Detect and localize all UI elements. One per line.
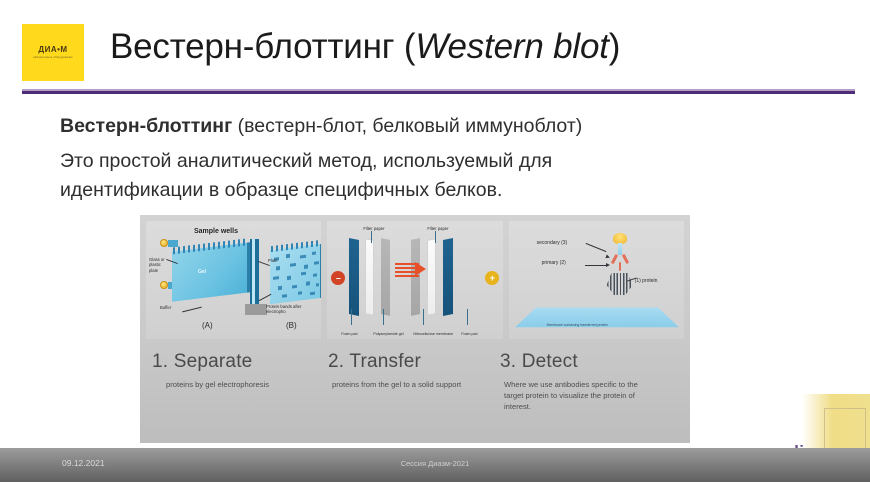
membrane-label: Membrane containing transferred protein (547, 323, 608, 327)
tick-foot-2 (383, 309, 384, 325)
step-detect: 3. Detect Where we use antibodies specif… (500, 351, 682, 437)
step-3-title: 3. Detect (500, 351, 682, 373)
leader-line-primary (585, 265, 607, 266)
step-1-title: 1. Separate (152, 351, 328, 373)
plate-label: Plate (268, 258, 278, 263)
tick-foot-4 (467, 309, 468, 325)
lead-term: Вестерн-блоттинг (60, 115, 232, 137)
lead-synonyms: (вестерн-блот, белковый иммуноблот) (232, 115, 582, 137)
step-2-desc: proteins from the gel to a solid support (332, 379, 464, 390)
buffer-label: Buffer (160, 305, 171, 310)
anode-icon: + (485, 271, 499, 285)
page-title-ru: Вестерн-блоттинг ( (110, 27, 415, 66)
tick-filter-right (435, 231, 436, 243)
page-title-en: Western blot (415, 27, 608, 66)
polyacrylamide-gel (381, 238, 390, 316)
page-title-close: ) (609, 27, 620, 66)
filter-paper-left-label: Filter paper (363, 226, 384, 231)
foam-pad-left (349, 238, 359, 316)
foam-pad-right-label: Foam pad (461, 332, 477, 336)
leader-line-buffer (182, 307, 202, 313)
figure-steps: 1. Separate proteins by gel electrophore… (148, 351, 682, 437)
tick-foot-3 (423, 309, 424, 325)
leader-head-primary (606, 263, 610, 267)
filter-paper-right (427, 238, 436, 316)
step-1-desc: proteins by gel electrophoresis (166, 379, 316, 390)
caption-b: (B) (286, 321, 297, 330)
western-blot-figure: Sample wells Gel (140, 215, 690, 443)
panel-transfer: – + Filter paper Filter paper Foam pa (327, 221, 502, 339)
filter-paper-right-label: Filter paper (427, 226, 448, 231)
step-separate: 1. Separate proteins by gel electrophore… (148, 351, 328, 437)
slide-footer: 09.12.2021 Сессия Диазм-2021 (0, 448, 870, 482)
electrode-top-icon (160, 239, 168, 247)
electrode-bottom-icon (160, 281, 168, 289)
secondary-antibody-label: secondary (3) (537, 241, 568, 246)
figure-panels: Sample wells Gel (146, 221, 684, 339)
glass-plates (250, 239, 259, 305)
slide-header: ДИА•М лабораторное оборудование Вестерн-… (0, 0, 870, 100)
step-2-title: 2. Transfer (328, 351, 500, 373)
description-paragraph: Это простой аналитический метод, использ… (60, 147, 700, 205)
tick-filter-left (371, 231, 372, 243)
caption-a: (A) (202, 321, 213, 330)
step-3-desc: Where we use antibodies specific to the … (504, 379, 656, 412)
gel-label: Gel (198, 269, 206, 275)
cathode-icon: – (331, 271, 345, 285)
transfer-arrow-icon (415, 262, 426, 276)
protein-bands-label: Protein bands after electropho (266, 304, 314, 315)
nitrocellulose-membrane (411, 238, 420, 316)
step-transfer: 2. Transfer proteins from the gel to a s… (328, 351, 500, 437)
sample-wells-title: Sample wells (194, 228, 238, 235)
diam-logo: ДИА•М лабораторное оборудование (22, 24, 84, 81)
title-rule-dark (22, 91, 855, 94)
lead-paragraph: Вестерн-блоттинг (вестерн-блот, белковый… (60, 115, 582, 138)
leader-head-secondary (605, 254, 610, 259)
protein-label: (1) protein (635, 279, 658, 284)
target-protein-icon (607, 273, 633, 295)
page-title: Вестерн-блоттинг (Western blot) (110, 27, 620, 67)
leader-line-secondary (585, 243, 606, 252)
primary-antibody-icon (611, 254, 629, 272)
protein-bands (270, 248, 321, 302)
tick-foot-1 (351, 309, 352, 325)
primary-antibody-label: primary (2) (542, 261, 566, 266)
filter-paper-left (365, 238, 374, 316)
slide-surface: ДИА•М лабораторное оборудование Вестерн-… (0, 0, 870, 482)
logo-subtext: лабораторное оборудование (33, 56, 73, 59)
panel-detect: Membrane containing transferred protein … (509, 221, 684, 339)
nitrocellulose-membrane-label: Nitrocellulose membrane (413, 332, 453, 336)
panel-separate: Sample wells Gel (146, 221, 321, 339)
logo-wordmark: ДИА•М (38, 46, 67, 54)
foam-pad-right (443, 238, 453, 316)
plate-base (245, 304, 267, 315)
footer-session: Сессия Диазм-2021 (0, 459, 870, 468)
foam-pad-left-label: Foam pad (341, 332, 357, 336)
polyacrylamide-gel-label: Polyacrylamide gel (373, 332, 403, 336)
